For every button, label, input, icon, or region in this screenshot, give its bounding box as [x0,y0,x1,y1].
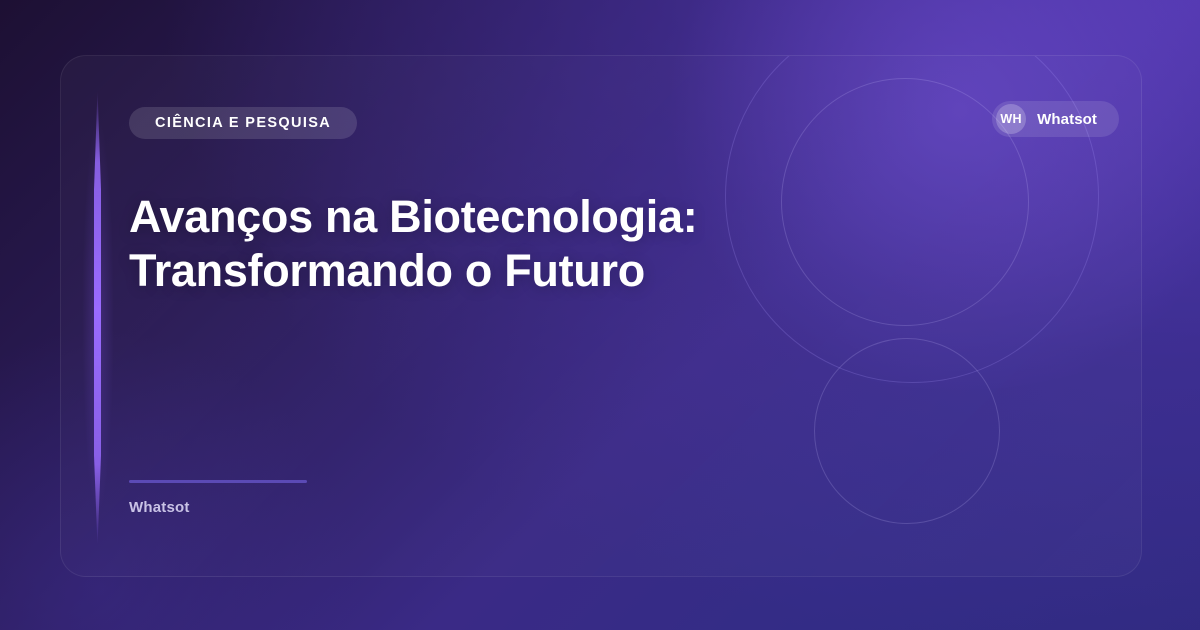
og-image-canvas: CIÊNCIA E PESQUISA Avanços na Biotecnolo… [0,0,1200,630]
brand-name-label: Whatsot [1037,111,1097,128]
card-content: CIÊNCIA E PESQUISA Avanços na Biotecnolo… [129,56,1141,576]
content-card: CIÊNCIA E PESQUISA Avanços na Biotecnolo… [60,55,1142,577]
page-title: Avanços na Biotecnologia: Transformando … [129,190,729,298]
footer-brand-name: Whatsot [129,499,307,516]
left-accent-bar [94,89,101,547]
category-badge: CIÊNCIA E PESQUISA [129,107,357,139]
avatar: WH [996,104,1026,134]
footer-divider [129,480,307,483]
card-footer: Whatsot [129,480,307,516]
brand-badge: WH Whatsot [992,101,1119,137]
